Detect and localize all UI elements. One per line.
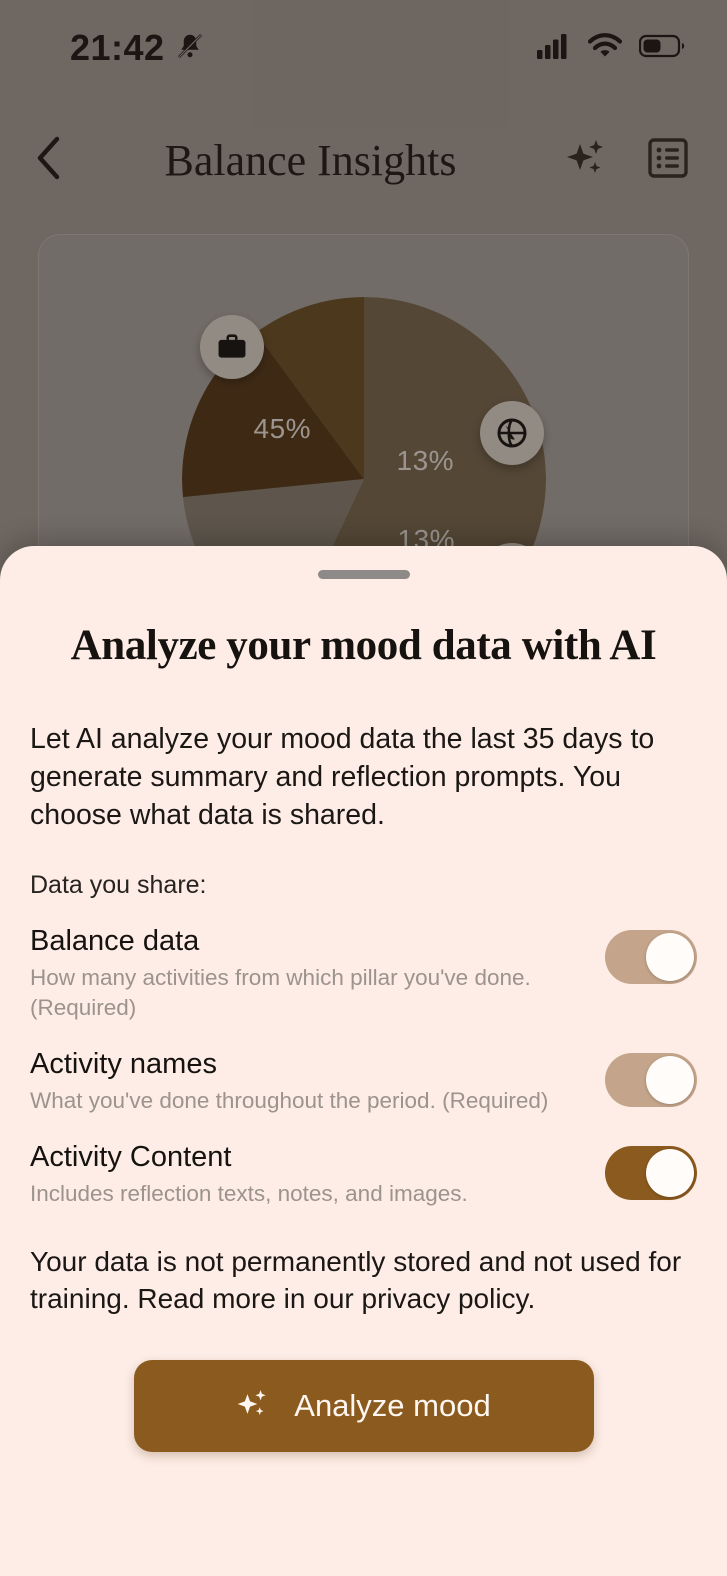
sheet-description: Let AI analyze your mood data the last 3… [30, 720, 697, 835]
toggle-title: Activity Content [30, 1140, 587, 1174]
toggle-row-text: Activity names What you've done througho… [30, 1045, 587, 1116]
toggle-row-activity-names: Activity names What you've done througho… [30, 1045, 697, 1116]
toggle-row-text: Balance data How many activities from wh… [30, 922, 587, 1023]
data-share-label: Data you share: [30, 871, 697, 900]
toggle-row-activity-content: Activity Content Includes reflection tex… [30, 1138, 697, 1209]
sparkle-icon [236, 1386, 272, 1425]
privacy-note: Your data is not permanently stored and … [30, 1243, 697, 1318]
ai-consent-bottom-sheet: Analyze your mood data with AI Let AI an… [0, 546, 727, 1576]
drag-handle[interactable] [318, 570, 410, 579]
toggle-row-balance-data: Balance data How many activities from wh… [30, 922, 697, 1023]
toggle-title: Balance data [30, 924, 587, 958]
toggle-knob [646, 1056, 694, 1104]
toggle-row-text: Activity Content Includes reflection tex… [30, 1138, 587, 1209]
toggle-subtitle: Includes reflection texts, notes, and im… [30, 1179, 587, 1209]
toggle-activity-content[interactable] [605, 1146, 697, 1200]
toggle-subtitle: How many activities from which pillar yo… [30, 963, 587, 1023]
toggle-knob [646, 1149, 694, 1197]
toggle-activity-names[interactable] [605, 1053, 697, 1107]
sheet-title: Analyze your mood data with AI [30, 621, 697, 670]
toggle-title: Activity names [30, 1047, 587, 1081]
analyze-mood-label: Analyze mood [294, 1388, 490, 1424]
analyze-mood-button[interactable]: Analyze mood [134, 1360, 594, 1452]
toggle-balance-data[interactable] [605, 930, 697, 984]
toggle-subtitle: What you've done throughout the period. … [30, 1086, 587, 1116]
toggle-knob [646, 933, 694, 981]
